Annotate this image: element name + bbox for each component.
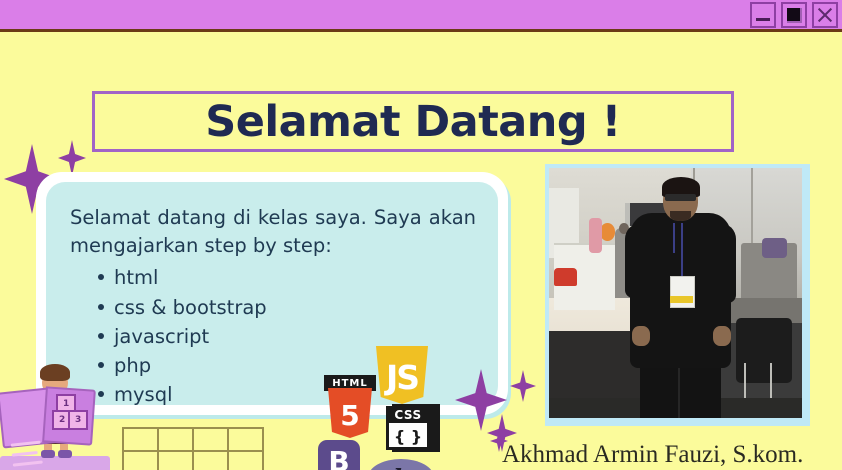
css-logo-mark: { } [386, 423, 430, 450]
intro-paragraph: Selamat datang di kelas saya. Saya akan … [70, 204, 476, 259]
bootstrap-logo: B [318, 440, 360, 470]
sparkle-icon [58, 140, 86, 176]
slide-canvas: Selamat Datang ! Selamat datang di kelas… [0, 32, 842, 470]
window-titlebar [0, 0, 842, 32]
list-item: html [98, 263, 476, 292]
html5-logo-mark: 5 [328, 390, 372, 440]
books-illustration: 1 2 3 [0, 350, 116, 470]
php-logo: php [368, 459, 434, 470]
instructor-photo [549, 168, 802, 418]
page-title: Selamat Datang ! [205, 97, 621, 147]
window-controls [750, 2, 838, 28]
php-logo-mark: php [379, 465, 423, 470]
tech-logos-group: JS HTML 5 CSS { } B php [318, 342, 458, 470]
slide-title-box: Selamat Datang ! [92, 91, 734, 152]
instructor-photo-frame [545, 164, 810, 426]
slide-window: Selamat Datang ! Selamat datang di kelas… [0, 0, 842, 470]
grid-decoration [122, 427, 264, 470]
javascript-logo-label: JS [376, 348, 428, 406]
minimize-button[interactable] [750, 2, 776, 28]
list-item: css & bootstrap [98, 293, 476, 322]
maximize-icon [787, 8, 802, 23]
book-block-number: 1 [63, 399, 69, 409]
book-block-number: 2 [59, 415, 65, 425]
css-logo-label: CSS [386, 406, 430, 423]
close-button[interactable] [812, 2, 838, 28]
close-icon [816, 6, 834, 24]
minimize-icon [756, 18, 770, 21]
book-block-number: 3 [75, 415, 81, 425]
sparkle-icon [510, 370, 536, 402]
instructor-name: Akhmad Armin Fauzi, S.kom. [502, 441, 803, 469]
maximize-button[interactable] [781, 2, 807, 28]
